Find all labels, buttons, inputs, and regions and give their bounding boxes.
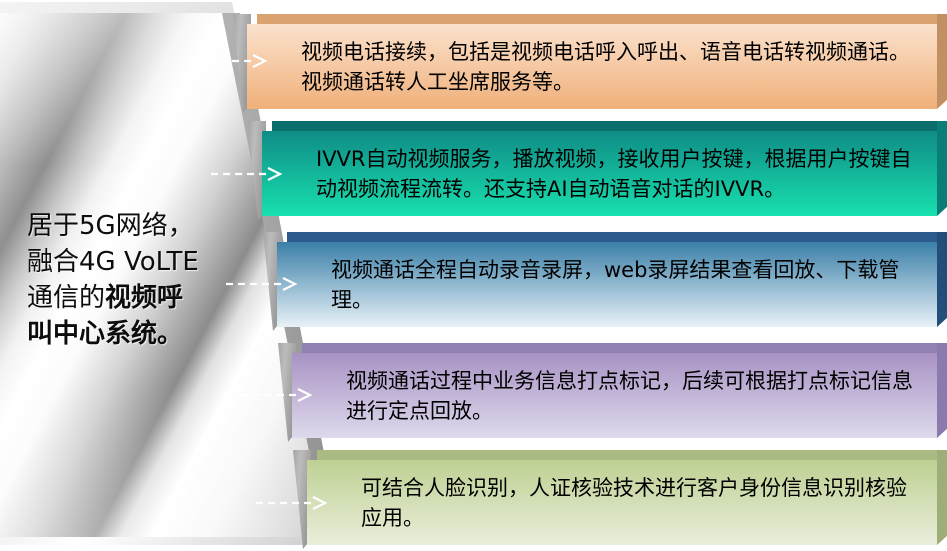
panel-title-line-3: 通信的视频呼 <box>27 280 232 316</box>
feature-box-4[interactable]: 视频通话过程中业务信息打点标记，后续可根据打点标记信息进行定点回放。 <box>292 353 937 438</box>
box-front-face: 可结合人脸识别，人证核验技术进行客户身份信息识别核验应用。 <box>307 460 937 545</box>
panel-title-line-2: 融合4G VoLTE <box>27 244 232 280</box>
panel-title-line-3-bold: 视频呼 <box>105 283 183 313</box>
panel-title-line-3-normal: 通信的 <box>27 283 105 313</box>
feature-text-5: 可结合人脸识别，人证核验技术进行客户身份信息识别核验应用。 <box>307 473 937 533</box>
feature-text-1: 视频电话接续，包括是视频电话呼入呼出、语音电话转视频通话。视频通话转人工坐席服务… <box>247 37 937 97</box>
box-front-face: 视频通话过程中业务信息打点标记，后续可根据打点标记信息进行定点回放。 <box>292 353 937 438</box>
box-top-face <box>317 450 947 460</box>
slide-canvas: 居于5G网络， 融合4G VoLTE 通信的视频呼 叫中心系统。 视频电话接续，… <box>0 0 947 551</box>
box-top-face <box>272 121 947 131</box>
box-top-face <box>302 343 947 353</box>
box-right-face <box>937 232 947 327</box>
feature-box-2[interactable]: IVVR自动视频服务，播放视频，接收用户按键，根据用户按键自动视频流程流转。还支… <box>262 131 937 216</box>
box-front-face: 视频通话全程自动录音录屏，web录屏结果查看回放、下载管理。 <box>277 242 937 327</box>
feature-box-1[interactable]: 视频电话接续，包括是视频电话呼入呼出、语音电话转视频通话。视频通话转人工坐席服务… <box>247 24 937 109</box>
box-right-face <box>937 450 947 545</box>
box-front-face: IVVR自动视频服务，播放视频，接收用户按键，根据用户按键自动视频流程流转。还支… <box>262 131 937 216</box>
box-front-face: 视频电话接续，包括是视频电话呼入呼出、语音电话转视频通话。视频通话转人工坐席服务… <box>247 24 937 109</box>
box-right-face <box>937 121 947 216</box>
box-right-face <box>937 14 947 109</box>
panel-title-line-1: 居于5G网络， <box>27 208 232 244</box>
feature-box-5[interactable]: 可结合人脸识别，人证核验技术进行客户身份信息识别核验应用。 <box>307 460 937 545</box>
panel-title-text: 居于5G网络， 融合4G VoLTE 通信的视频呼 叫中心系统。 <box>27 208 232 352</box>
feature-text-2: IVVR自动视频服务，播放视频，接收用户按键，根据用户按键自动视频流程流转。还支… <box>262 144 937 204</box>
box-top-face <box>257 14 947 24</box>
box-top-face <box>287 232 947 242</box>
feature-text-3: 视频通话全程自动录音录屏，web录屏结果查看回放、下载管理。 <box>277 255 937 315</box>
feature-box-3[interactable]: 视频通话全程自动录音录屏，web录屏结果查看回放、下载管理。 <box>277 242 937 327</box>
box-right-face <box>937 343 947 438</box>
panel-title-line-4: 叫中心系统。 <box>27 316 232 352</box>
feature-text-4: 视频通话过程中业务信息打点标记，后续可根据打点标记信息进行定点回放。 <box>292 366 937 426</box>
